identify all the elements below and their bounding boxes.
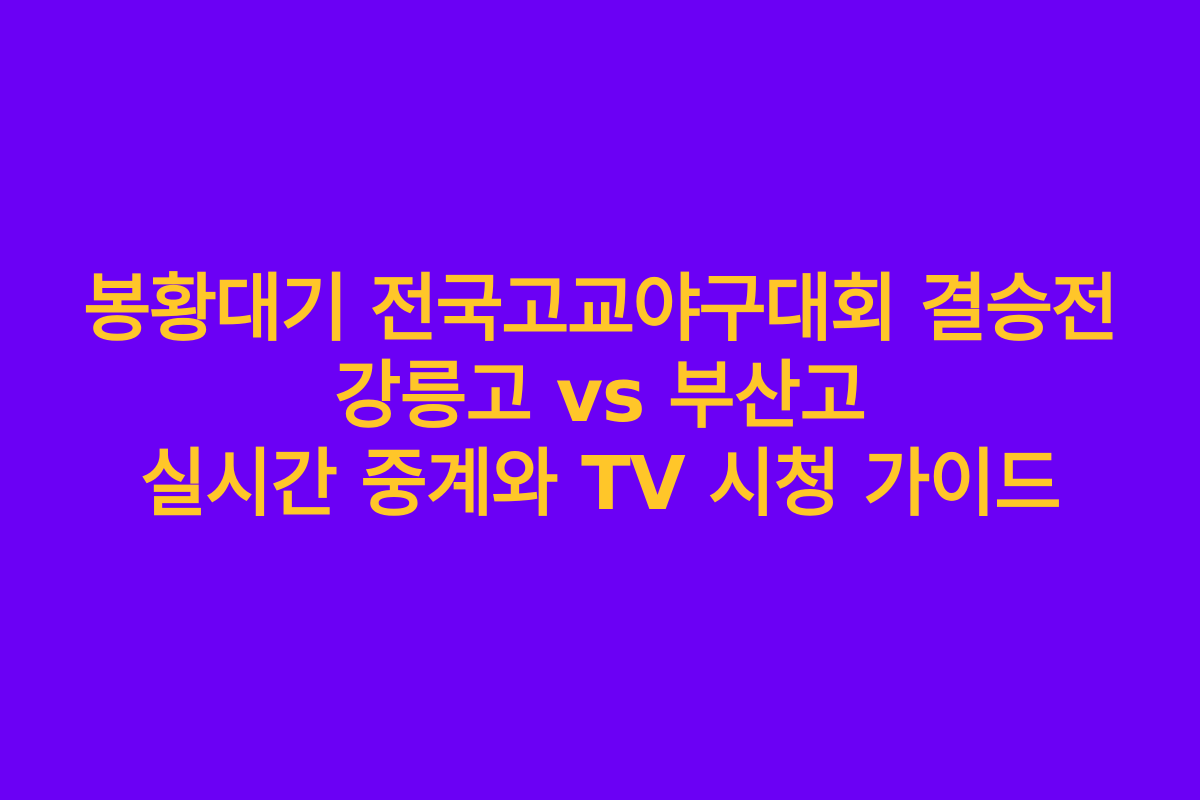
- headline-line-3: 실시간 중계와 TV 시청 가이드: [20, 441, 1180, 528]
- headline-line-2: 강릉고 vs 부산고: [20, 353, 1180, 440]
- headline-line-1: 봉황대기 전국고교야구대회 결승전: [11, 266, 1189, 353]
- thumbnail-banner: 봉황대기 전국고교야구대회 결승전 강릉고 vs 부산고 실시간 중계와 TV …: [0, 0, 1200, 800]
- headline-block: 봉황대기 전국고교야구대회 결승전 강릉고 vs 부산고 실시간 중계와 TV …: [0, 266, 1200, 528]
